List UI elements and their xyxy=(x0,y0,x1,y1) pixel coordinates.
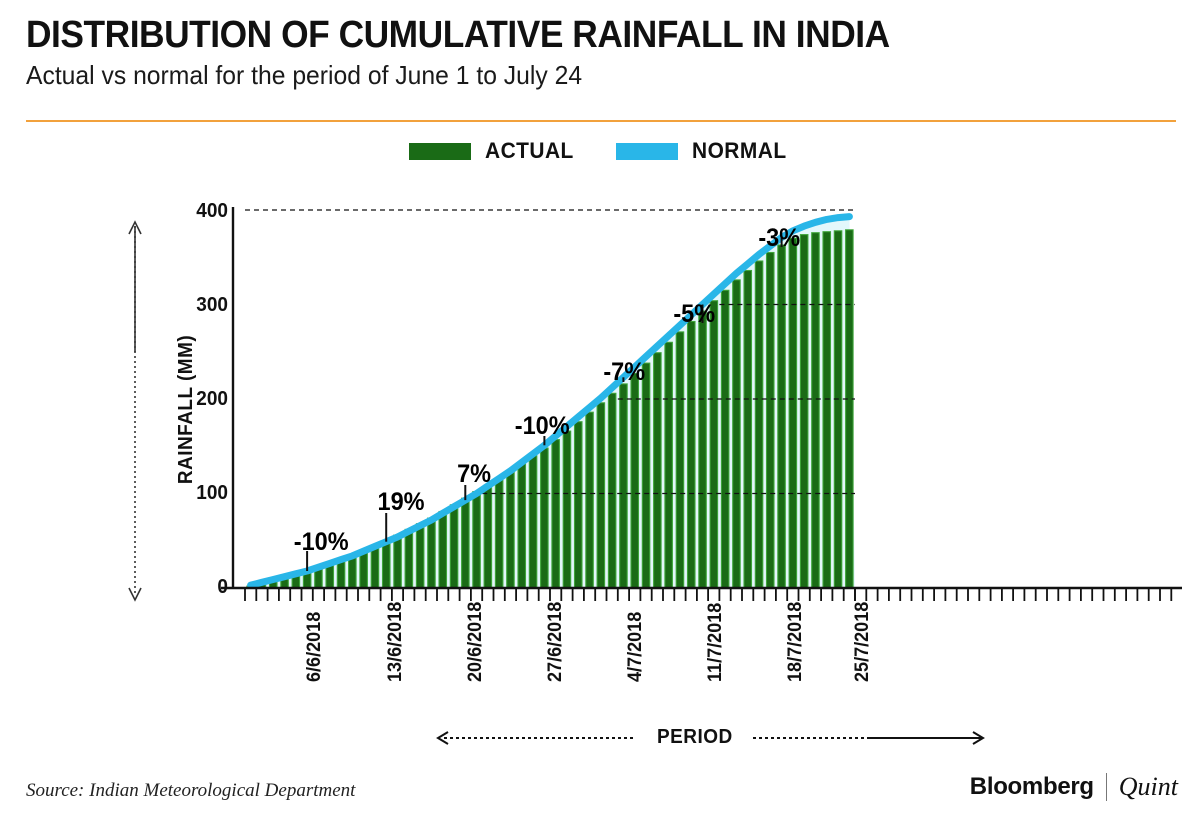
x-tick-label: 13/6/2018 xyxy=(385,602,407,682)
y-axis-arrow xyxy=(129,222,141,600)
brand-bloomberg: Bloomberg xyxy=(970,773,1094,801)
annotation-label: -7% xyxy=(603,358,645,387)
x-tick-label: 11/7/2018 xyxy=(705,603,727,682)
source-note: Source: Indian Meteorological Department xyxy=(26,780,355,802)
brand-quint: Quint xyxy=(1119,772,1178,802)
x-tick-label: 6/6/2018 xyxy=(304,612,326,682)
x-tick-label: 20/6/2018 xyxy=(465,602,487,682)
period-arrow-right xyxy=(751,728,990,748)
chart-plot-area: 400 300 200 100 0 RAINFALL (MM) 6/6/2018… xyxy=(0,0,1200,816)
x-axis-label-row: PERIOD xyxy=(430,726,990,749)
brand-divider xyxy=(1106,773,1107,801)
x-tick-label: 18/7/2018 xyxy=(785,602,807,682)
y-tick-100: 100 xyxy=(171,482,228,505)
x-tick-label: 27/6/2018 xyxy=(545,602,567,682)
y-tick-0: 0 xyxy=(171,576,228,599)
y-axis-label: RAINFALL (MM) xyxy=(175,335,198,484)
x-tick-label: 4/7/2018 xyxy=(625,612,647,682)
brand-logo: Bloomberg Quint xyxy=(970,772,1178,802)
y-tick-300: 300 xyxy=(171,294,228,317)
annotation-label: -3% xyxy=(758,224,800,253)
period-arrow-left xyxy=(430,728,639,748)
annotation-label: 7% xyxy=(457,460,491,489)
annotation-label: -10% xyxy=(515,412,570,441)
annotation-label: -10% xyxy=(294,528,349,557)
x-axis-label: PERIOD xyxy=(642,726,748,749)
y-tick-400: 400 xyxy=(171,200,228,223)
annotation-label: 19% xyxy=(378,488,425,517)
annotation-label: -5% xyxy=(673,300,715,329)
x-tick-label: 25/7/2018 xyxy=(852,602,874,682)
